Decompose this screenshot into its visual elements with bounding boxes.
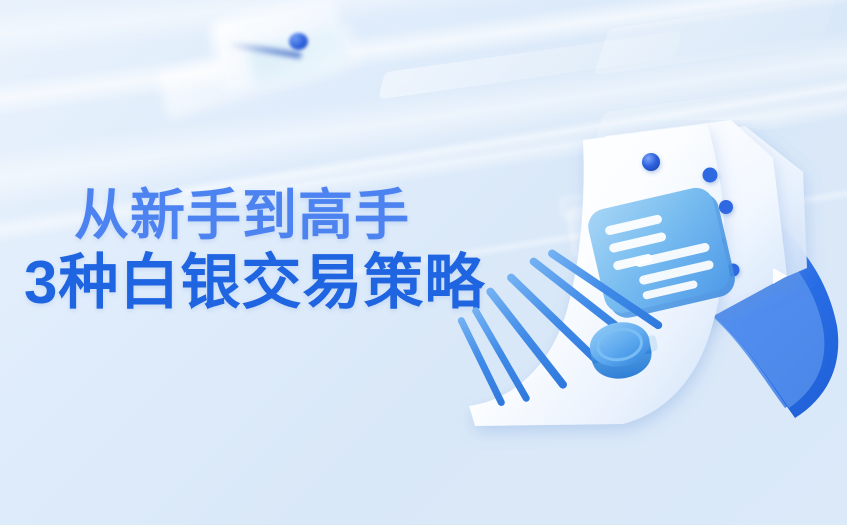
dark-blue-dot-icon	[642, 153, 660, 171]
blue-dot-icon	[703, 168, 718, 183]
blue-dot-icon	[719, 200, 733, 214]
background-light-band	[0, 0, 847, 136]
text-line	[485, 286, 569, 390]
blurred-blue-dot-icon	[289, 33, 308, 50]
text-line	[457, 316, 506, 407]
banner-canvas: 从新手到高手 3种白银交易策略	[0, 0, 847, 525]
background-light-band	[0, 0, 847, 71]
document-illustration	[455, 120, 847, 450]
background-plate	[378, 31, 682, 100]
background-plate	[594, 0, 837, 75]
